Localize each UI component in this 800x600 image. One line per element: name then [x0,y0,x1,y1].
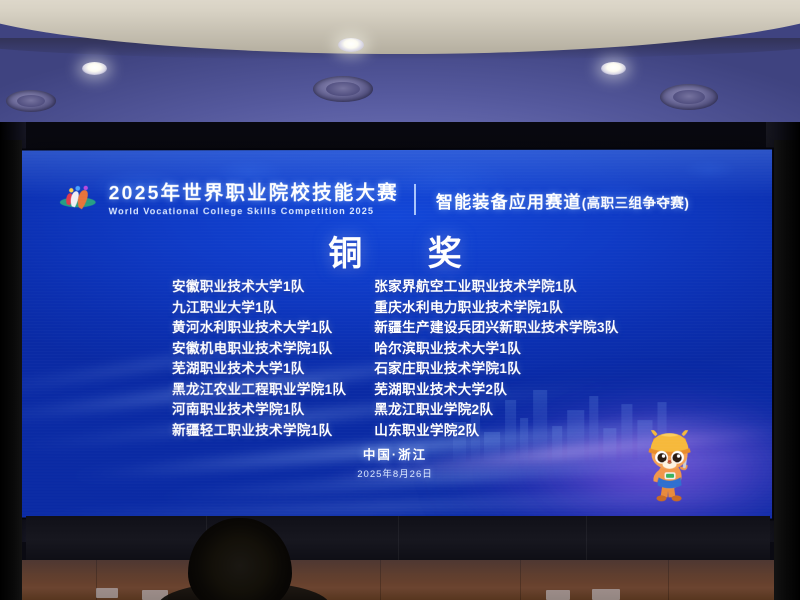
paper-sheet [592,589,620,600]
stage-skirt [26,516,770,564]
track-subtitle-paren: (高职三组争夺赛) [582,196,689,211]
list-item: 新疆生产建设兵团兴新职业技术学院3队 [374,318,618,338]
list-item: 九江职业大学1队 [172,298,346,318]
award-title: 铜 奖 [20,226,772,275]
track-subtitle: 智能装备应用赛道(高职三组争夺赛) [436,188,689,216]
paper-sheet [546,590,570,600]
ceiling-spotlight [601,62,626,75]
ceiling-speaker [313,76,373,102]
list-item: 石家庄职业技术学院1队 [374,359,618,379]
list-item: 重庆水利电力职业技术学院1队 [374,297,618,317]
competition-mascot-icon [640,430,698,502]
competition-emblem-icon [58,182,98,216]
list-item: 芜湖职业技术大学2队 [374,379,618,399]
list-item: 黑龙江农业工程职业学院1队 [172,379,346,399]
auditorium-scene: 2025年世界职业院校技能大赛 World Vocational College… [0,0,800,600]
competition-title-cn: 2025年世界职业院校技能大赛 [109,184,399,204]
list-item: 黑龙江职业学院2队 [374,400,618,420]
ceiling-speaker [660,84,718,110]
list-item: 安徽职业技术大学1队 [172,277,346,297]
list-item: 黄河水利职业技术大学1队 [172,318,346,337]
header-divider [414,184,416,215]
list-item: 张家界航空工业职业技术学院1队 [374,277,618,297]
left-column: 安徽职业技术大学1队 九江职业大学1队 黄河水利职业技术大学1队 安徽机电职业技… [172,277,346,440]
winners-columns: 安徽职业技术大学1队 九江职业大学1队 黄河水利职业技术大学1队 安徽机电职业技… [20,277,772,440]
floor-reflection [0,560,800,600]
paper-sheet [96,588,118,598]
competition-title-en: World Vocational College Skills Competit… [109,207,399,216]
ceiling-speaker [6,90,56,112]
list-item: 安徽机电职业技术学院1队 [172,338,346,357]
list-item: 新疆轻工职业技术学院1队 [172,420,346,440]
list-item: 山东职业学院2队 [374,420,618,440]
ceiling-spotlight [82,62,107,75]
list-item: 哈尔滨职业技术大学1队 [374,338,618,358]
right-column: 张家界航空工业职业技术学院1队 重庆水利电力职业技术学院1队 新疆生产建设兵团兴… [374,277,618,440]
stage-curtain-right [774,140,800,600]
ceiling-spotlight [338,38,364,52]
screen-header: 2025年世界职业院校技能大赛 World Vocational College… [58,182,742,217]
led-display-screen: 2025年世界职业院校技能大赛 World Vocational College… [20,149,772,518]
track-subtitle-main: 智能装备应用赛道 [436,193,582,212]
list-item: 河南职业技术学院1队 [172,400,346,420]
stage-curtain-left [0,140,22,600]
screen-content: 2025年世界职业院校技能大赛 World Vocational College… [20,149,772,518]
competition-title-block: 2025年世界职业院校技能大赛 World Vocational College… [109,184,399,216]
list-item: 芜湖职业技术大学1队 [172,359,346,379]
